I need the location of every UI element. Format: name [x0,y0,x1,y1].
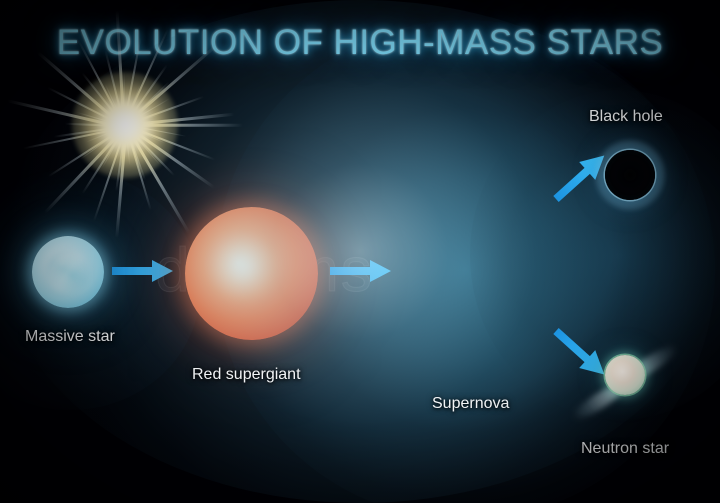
supernova-burst [0,0,250,250]
label-black-hole: Black hole [589,108,663,126]
label-massive-star: Massive star [25,328,115,346]
neutron-star-sphere [605,355,645,395]
label-red-supergiant: Red supergiant [192,366,301,384]
black-hole-disc [605,150,655,200]
supernova-core [72,72,178,178]
black-hole-accretion-ring [596,141,664,209]
label-supernova: Supernova [432,395,509,413]
star-evolution-diagram: dreams time EVOLUTION OF HIGH-MASS STARS [0,0,720,503]
label-neutron-star: Neutron star [581,440,669,458]
